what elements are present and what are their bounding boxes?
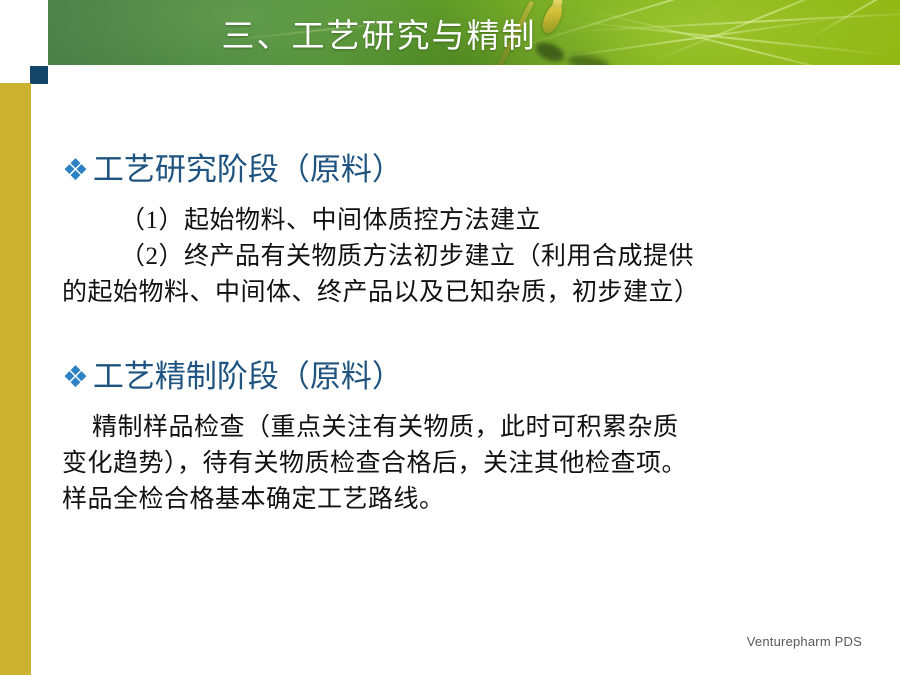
section-heading-label: 工艺精制阶段（原料） [93,357,403,397]
section-1-body: （1）起始物料、中间体质控方法建立 （2）终产品有关物质方法初步建立（利用合成提… [62,203,882,311]
section-heading-2: ❖ 工艺精制阶段（原料） [62,357,882,398]
section-2-body: 精制样品检查（重点关注有关物质，此时可积累杂质 变化趋势），待有关物质检查合格后… [62,410,882,518]
accent-square [30,66,48,84]
header-banner: 三、工艺研究与精制 [48,0,900,65]
body-line: 变化趋势），待有关物质检查合格后，关注其他检查项。 [62,446,882,482]
diamond-bullet-icon: ❖ [62,358,89,398]
body-line: 精制样品检查（重点关注有关物质，此时可积累杂质 [62,410,882,446]
section-heading-label: 工艺研究阶段（原料） [93,150,403,190]
body-line: 的起始物料、中间体、终产品以及已知杂质，初步建立） [62,275,882,311]
footer-text: Venturepharm PDS [747,634,862,649]
spacer [62,191,882,203]
accent-sidebar [0,83,31,675]
section-heading-1: ❖ 工艺研究阶段（原料） [62,150,882,191]
spacer [62,311,882,357]
body-line: 样品全检合格基本确定工艺路线。 [62,482,882,518]
page-title: 三、工艺研究与精制 [48,0,900,65]
body-line: （2）终产品有关物质方法初步建立（利用合成提供 [62,239,882,275]
body-line: （1）起始物料、中间体质控方法建立 [62,203,882,239]
spacer [62,398,882,410]
slide-content: ❖ 工艺研究阶段（原料） （1）起始物料、中间体质控方法建立 （2）终产品有关物… [62,150,882,518]
diamond-bullet-icon: ❖ [62,151,89,191]
slide: 三、工艺研究与精制 ❖ 工艺研究阶段（原料） （1）起始物料、中间体质控方法建立… [0,0,900,675]
